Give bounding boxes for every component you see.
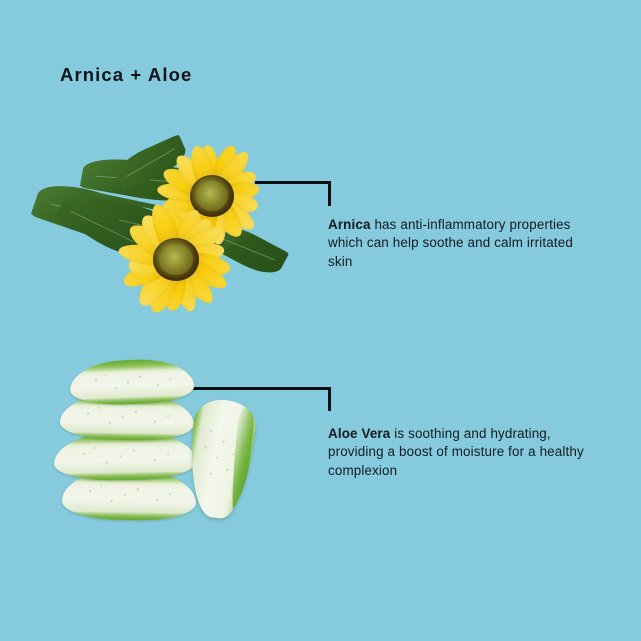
arnica-flower-center — [153, 238, 199, 281]
connector-horizontal-segment — [188, 387, 331, 390]
aloe-pulp-texture — [68, 440, 182, 475]
page-title: Arnica + Aloe — [60, 64, 192, 86]
aloe-pulp-texture — [75, 478, 183, 514]
arnica-flower-image — [26, 128, 298, 320]
aloe-slice — [69, 358, 194, 406]
callout-text-aloe: Aloe Vera is soothing and hydrating, pro… — [328, 425, 590, 480]
connector-line-arnica — [255, 181, 331, 206]
callout-text-arnica: Arnica has anti-inflammatory properties … — [328, 216, 590, 271]
callout-lead-aloe: Aloe Vera — [328, 426, 390, 441]
aloe-vera-image — [44, 358, 266, 530]
connector-horizontal-segment — [255, 181, 331, 184]
arnica-bloom-lower — [108, 198, 244, 320]
aloe-pulp-texture — [73, 401, 181, 434]
connector-vertical-segment — [328, 181, 331, 206]
aloe-slice-standing — [184, 397, 258, 521]
aloe-pulp-texture — [82, 366, 182, 399]
callout-lead-arnica: Arnica — [328, 217, 371, 232]
infographic-canvas: Arnica + Aloe Arnica has anti-inflammato… — [0, 0, 641, 641]
connector-vertical-segment — [328, 387, 331, 411]
